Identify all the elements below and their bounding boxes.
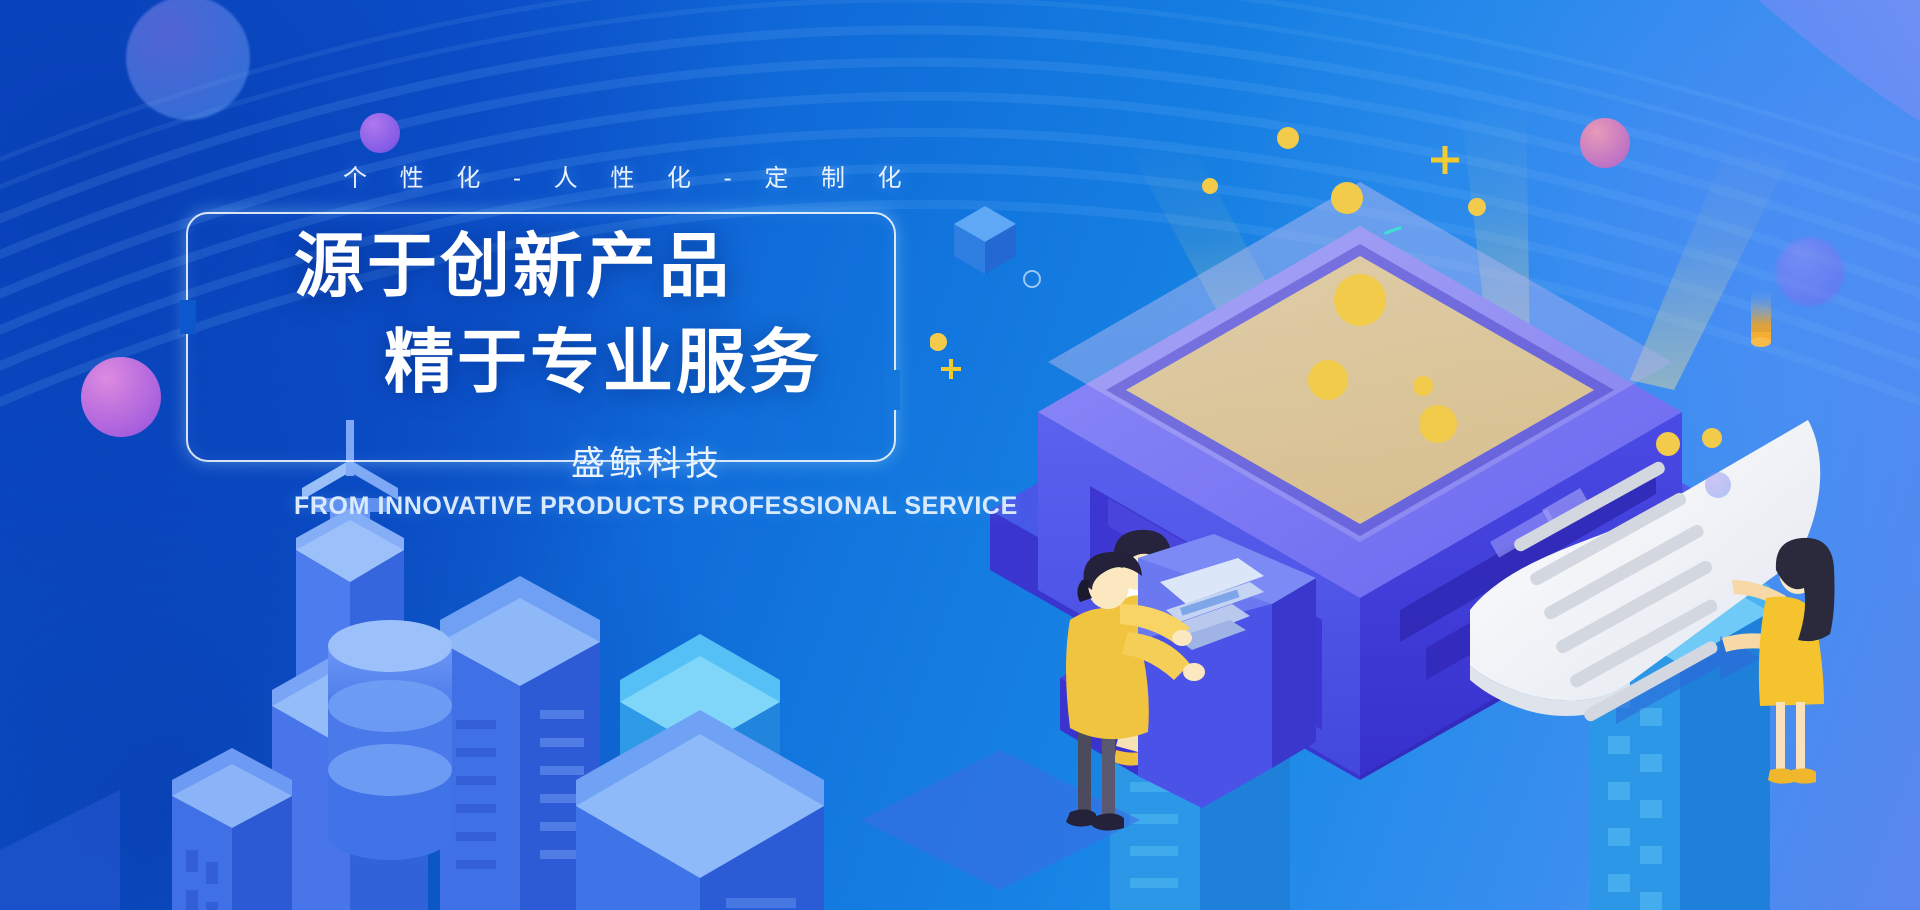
banner-root: 个 性 化 - 人 性 化 - 定 制 化 源于创新产品 精于专业服务 盛鲸科技…	[0, 0, 1920, 910]
bubble-violet-right	[1776, 238, 1844, 306]
glow-right	[1180, 0, 1920, 600]
light-beams	[1130, 100, 1788, 390]
printed-paper-roll	[1470, 420, 1820, 723]
headline-line-2: 精于专业服务	[186, 314, 906, 410]
building-group-midleft	[172, 748, 292, 910]
person-standing-receiving-paper	[1722, 538, 1835, 784]
orange-cylinder	[1744, 288, 1778, 350]
paper-text-lines	[1512, 460, 1719, 724]
purple-swoosh-decoration	[1140, 0, 1920, 400]
headline-text-block: 个 性 化 - 人 性 化 - 定 制 化 源于创新产品 精于专业服务 盛鲸科技…	[0, 0, 1160, 680]
cyan-tick	[1382, 222, 1404, 244]
headline: 源于创新产品 精于专业服务	[186, 218, 906, 410]
arrow-right-icon	[1616, 636, 1760, 724]
tagline: 个 性 化 - 人 性 化 - 定 制 化	[330, 158, 890, 193]
building-group-far-right	[1590, 534, 1770, 910]
slab-center	[860, 750, 1140, 890]
building-wide-center	[576, 710, 824, 910]
english-subtitle: FROM INNOVATIVE PRODUCTS PROFESSIONAL SE…	[186, 492, 1000, 521]
company-name: 盛鲸科技	[186, 436, 1000, 485]
slab-bottom-left	[0, 790, 120, 910]
plus-icon-right-top	[1430, 145, 1460, 175]
bubble-small-right	[1705, 472, 1731, 498]
headline-line-1: 源于创新产品	[186, 218, 906, 314]
bubble-pink-right	[1580, 118, 1630, 168]
